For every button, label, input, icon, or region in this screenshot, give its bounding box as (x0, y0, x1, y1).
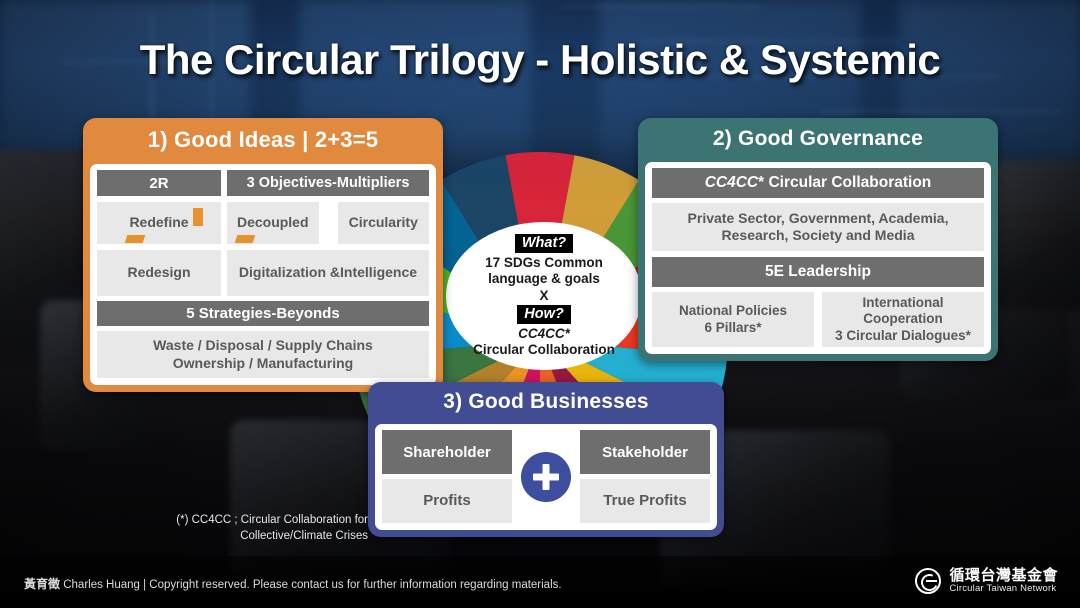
plus-icon (521, 452, 571, 502)
cell-strategies-header: 5 Strategies-Beyonds (97, 301, 429, 326)
logo-name-cjk: 循環台灣基金會 (949, 568, 1058, 585)
cc4cc-rest: * Circular Collaboration (758, 174, 931, 192)
author-name-en: Charles Huang | Copyright reserved. Plea… (63, 579, 561, 591)
international-line-1: International (862, 295, 943, 311)
plus-operator (512, 430, 580, 523)
cell-profits: Profits (382, 479, 512, 523)
cell-objectives-header: 3 Objectives-Multipliers (227, 170, 429, 196)
strategies-line-1: Waste / Disposal / Supply Chains (153, 337, 373, 354)
cell-digitalization: Digitalization &Intelligence (227, 250, 429, 296)
panel-good-businesses[interactable]: 3) Good Businesses Shareholder Profits S… (368, 382, 724, 537)
panel-good-ideas-title: 1) Good Ideas | 2+3=5 (83, 118, 443, 164)
international-line-2: Cooperation (863, 311, 943, 327)
international-line-3: 3 Circular Dialogues* (835, 328, 971, 344)
footnote-line-2: Collective/Climate Crises (118, 528, 368, 544)
cell-circularity: Circularity (338, 202, 430, 244)
multiplier-marker-icon (125, 235, 146, 243)
cell-redesign: Redesign (97, 250, 221, 296)
cell-national-policies: National Policies 6 Pillars* (652, 292, 814, 347)
panel-good-businesses-title: 3) Good Businesses (368, 382, 724, 424)
how-line-2: Circular Collaboration (473, 342, 615, 358)
slide-canvas: The Circular Trilogy - Holistic & System… (0, 0, 1080, 608)
circular-taiwan-mark-icon (915, 568, 941, 594)
what-line-1: 17 SDGs Common (485, 255, 603, 271)
cell-cc4cc-members: Private Sector, Government, Academia, Re… (652, 203, 984, 251)
national-policies-line-2: 6 Pillars* (704, 320, 761, 336)
panel-good-governance-body: CC4CC * Circular Collaboration Private S… (645, 162, 991, 354)
footnote-line-1: (*) CC4CC ; Circular Collaboration for (118, 512, 368, 528)
cell-international-cooperation: International Cooperation 3 Circular Dia… (822, 292, 984, 347)
cell-5e-leadership-header: 5E Leadership (652, 257, 984, 287)
how-line-1: CC4CC* (518, 326, 570, 342)
shareholder-column: Shareholder Profits (382, 430, 512, 523)
cc4cc-abbrev: CC4CC (705, 174, 758, 192)
organization-logo: 循環台灣基金會 Circular Taiwan Network (915, 568, 1058, 595)
cell-strategies-values: Waste / Disposal / Supply Chains Ownersh… (97, 331, 429, 378)
cell-stakeholder: Stakeholder (580, 430, 710, 474)
what-line-2: language & goals (488, 271, 600, 287)
panel-good-businesses-body: Shareholder Profits Stakeholder True Pro… (375, 424, 717, 530)
cc4cc-members-line-1: Private Sector, Government, Academia, (688, 210, 949, 227)
how-label: How? (517, 305, 570, 325)
cell-cc4cc-header: CC4CC * Circular Collaboration (652, 168, 984, 198)
page-title: The Circular Trilogy - Holistic & System… (0, 36, 1080, 84)
strategies-line-2: Ownership / Manufacturing (173, 355, 353, 372)
logo-name-en: Circular Taiwan Network (949, 584, 1058, 595)
author-name-cjk: 黃育徵 (24, 577, 60, 591)
multiplier-marker-icon (193, 208, 203, 226)
multiplier-marker-icon (235, 235, 256, 243)
cell-shareholder: Shareholder (382, 430, 512, 474)
cell-2r-header: 2R (97, 170, 221, 196)
national-policies-line-1: National Policies (679, 303, 787, 319)
copyright-line: 黃育徵 Charles Huang | Copyright reserved. … (24, 575, 562, 592)
panel-good-governance-title: 2) Good Governance (638, 118, 998, 162)
cell-true-profits: True Profits (580, 479, 710, 523)
cc4cc-members-line-2: Research, Society and Media (722, 227, 915, 244)
multiply-symbol: X (539, 287, 548, 305)
logo-text-block: 循環台灣基金會 Circular Taiwan Network (949, 568, 1058, 595)
panel-good-ideas-body: 2R Redefine Redesign 3 Objectives-Multip… (90, 164, 436, 385)
what-label: What? (515, 234, 573, 254)
panel-good-governance[interactable]: 2) Good Governance CC4CC * Circular Coll… (638, 118, 998, 361)
panel-good-ideas[interactable]: 1) Good Ideas | 2+3=5 2R Redefine Redesi… (83, 118, 443, 392)
wheel-center-callout: What? 17 SDGs Common language & goals X … (446, 222, 642, 370)
stakeholder-column: Stakeholder True Profits (580, 430, 710, 523)
cc4cc-footnote: (*) CC4CC ; Circular Collaboration for C… (118, 512, 368, 545)
